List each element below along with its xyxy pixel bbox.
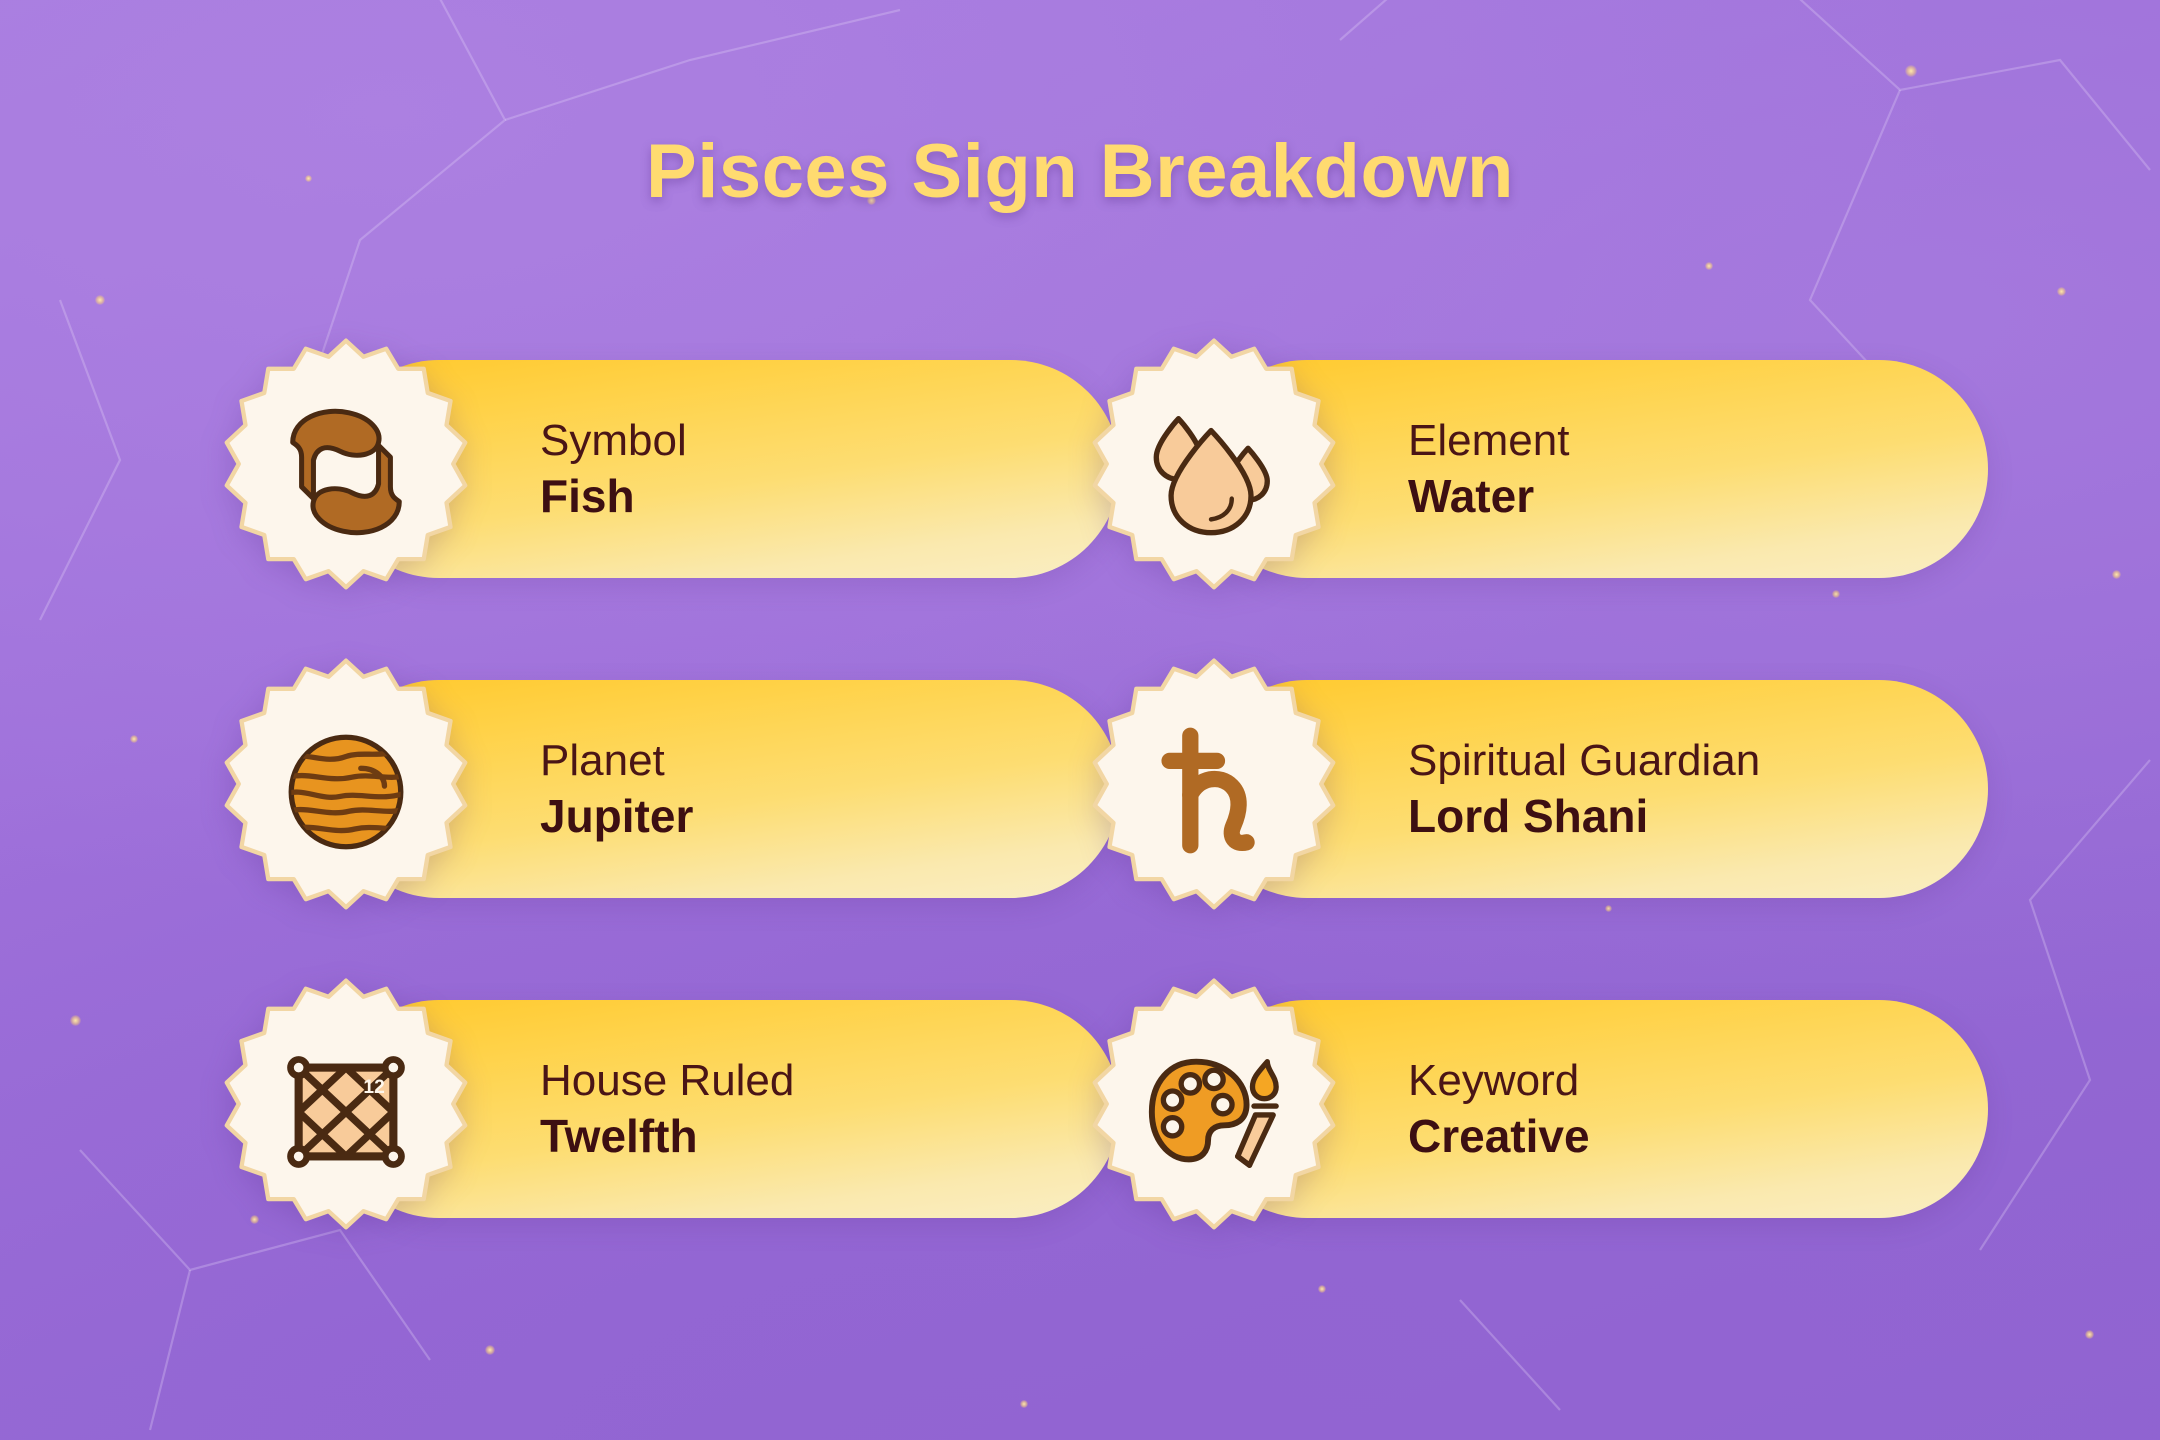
card-value: Water xyxy=(1408,472,1569,520)
star-dot xyxy=(2057,287,2066,296)
water-droplets-icon xyxy=(1140,398,1288,546)
card-label: Symbol xyxy=(540,418,687,464)
icon-wrapper xyxy=(1080,978,1348,1246)
card-text-block: Planet Jupiter xyxy=(540,738,693,840)
star-dot xyxy=(95,295,105,305)
card-value: Fish xyxy=(540,472,687,520)
two-fish-icon xyxy=(272,398,420,546)
card-value: Jupiter xyxy=(540,792,693,840)
house-number-label: 12 xyxy=(363,1077,384,1098)
card-house-ruled[interactable]: House Ruled Twelfth xyxy=(212,978,1080,1294)
card-text-block: Symbol Fish xyxy=(540,418,687,520)
icon-wrapper: 12 xyxy=(212,978,480,1246)
star-dot xyxy=(1020,1400,1028,1408)
card-value: Lord Shani xyxy=(1408,792,1760,840)
card-symbol[interactable]: Symbol Fish xyxy=(212,338,1080,654)
card-text-block: Keyword Creative xyxy=(1408,1058,1590,1160)
card-badge xyxy=(212,658,480,926)
card-keyword[interactable]: Keyword Creative xyxy=(1080,978,1948,1294)
page-title: Pisces Sign Breakdown xyxy=(0,128,2160,215)
star-dot xyxy=(485,1345,495,1355)
card-badge xyxy=(1080,658,1348,926)
card-badge xyxy=(1080,978,1348,1246)
star-dot xyxy=(2085,1330,2094,1339)
palette-brush-icon xyxy=(1140,1038,1288,1186)
jupiter-planet-icon xyxy=(272,718,420,866)
card-badge: 12 xyxy=(212,978,480,1246)
icon-wrapper xyxy=(1080,658,1348,926)
card-label: Planet xyxy=(540,738,693,784)
card-value: Creative xyxy=(1408,1112,1590,1160)
card-element[interactable]: Element Water xyxy=(1080,338,1948,654)
card-text-block: Spiritual Guardian Lord Shani xyxy=(1408,738,1760,840)
attributes-grid: Symbol Fish Element Water xyxy=(0,338,2160,1298)
card-text-block: House Ruled Twelfth xyxy=(540,1058,794,1160)
icon-wrapper xyxy=(212,338,480,606)
star-dot xyxy=(1905,65,1917,77)
card-label: House Ruled xyxy=(540,1058,794,1104)
card-label: Element xyxy=(1408,418,1569,464)
saturn-glyph-icon xyxy=(1140,718,1288,866)
card-value: Twelfth xyxy=(540,1112,794,1160)
card-text-block: Element Water xyxy=(1408,418,1569,520)
icon-wrapper xyxy=(212,658,480,926)
card-badge xyxy=(212,338,480,606)
card-label: Spiritual Guardian xyxy=(1408,738,1760,784)
icon-wrapper xyxy=(1080,338,1348,606)
card-spiritual-guardian[interactable]: Spiritual Guardian Lord Shani xyxy=(1080,658,1948,974)
card-planet[interactable]: Planet Jupiter xyxy=(212,658,1080,974)
card-label: Keyword xyxy=(1408,1058,1590,1104)
house-chart-icon: 12 xyxy=(272,1038,420,1186)
card-badge xyxy=(1080,338,1348,606)
star-dot xyxy=(1705,262,1713,270)
